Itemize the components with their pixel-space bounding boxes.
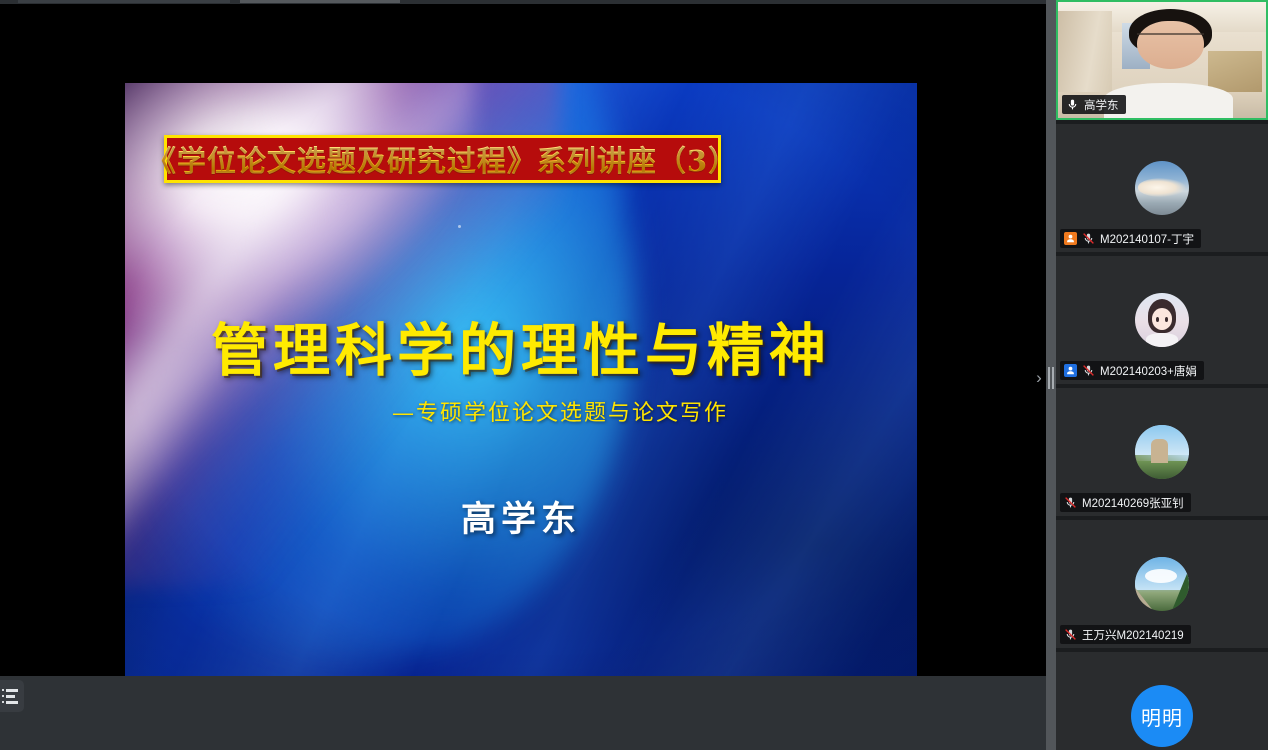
mic-unmuted-icon bbox=[1066, 98, 1079, 111]
slide-decorative-dot bbox=[458, 225, 461, 228]
filmstrip-resize-handle[interactable] bbox=[1047, 366, 1055, 390]
slide-banner-text: 《学位论文选题及研究过程》系列讲座（3） bbox=[147, 138, 738, 180]
participant-tile[interactable]: M202140269张亚钊 bbox=[1056, 388, 1268, 516]
mic-muted-icon bbox=[1064, 628, 1077, 641]
participant-tile[interactable]: 明明 朱明明 bbox=[1056, 652, 1268, 750]
slide-presenter-name: 高学东 bbox=[125, 491, 917, 542]
participant-name: M202140203+唐娟 bbox=[1100, 363, 1197, 379]
participant-label: 高学东 bbox=[1062, 95, 1126, 114]
participant-filmstrip[interactable]: 高学东 M202140107-丁宇 bbox=[1056, 0, 1268, 750]
avatar bbox=[1135, 161, 1189, 215]
avatar bbox=[1135, 293, 1189, 347]
avatar-initials: 明明 bbox=[1141, 702, 1183, 731]
avatar-container: 明明 bbox=[1056, 652, 1268, 750]
slide-main-title: 管理科学的理性与精神 bbox=[125, 305, 917, 387]
participant-label: 王万兴M202140219 bbox=[1060, 625, 1191, 644]
grip-line-1 bbox=[1048, 367, 1050, 389]
participant-tile[interactable]: M202140107-丁宇 bbox=[1056, 124, 1268, 252]
grip-line-2 bbox=[1052, 367, 1054, 389]
participant-name: M202140107-丁宇 bbox=[1100, 231, 1194, 247]
person-badge-icon bbox=[1064, 232, 1077, 245]
avatar bbox=[1135, 425, 1189, 479]
participant-tile[interactable]: 高学东 bbox=[1056, 0, 1268, 120]
participant-tile[interactable]: M202140203+唐娟 bbox=[1056, 256, 1268, 384]
participant-name: 王万兴M202140219 bbox=[1082, 627, 1184, 643]
chevron-right-icon[interactable]: › bbox=[1032, 368, 1046, 388]
participant-name: M202140269张亚钊 bbox=[1082, 495, 1184, 511]
list-icon-row-1 bbox=[2, 689, 24, 692]
slide-banner: 《学位论文选题及研究过程》系列讲座（3） bbox=[164, 135, 721, 183]
top-strip-segment-b bbox=[240, 0, 400, 3]
slide-sub-title: —专硕学位论文选题与论文写作 bbox=[125, 395, 917, 427]
list-view-button[interactable] bbox=[0, 680, 24, 712]
mic-muted-icon bbox=[1064, 496, 1077, 509]
list-icon-row-3 bbox=[2, 701, 24, 704]
mic-muted-icon bbox=[1082, 232, 1095, 245]
person-badge-icon bbox=[1064, 364, 1077, 377]
participant-label: M202140107-丁宇 bbox=[1060, 229, 1201, 248]
participant-label: M202140269张亚钊 bbox=[1060, 493, 1191, 512]
avatar bbox=[1135, 557, 1189, 611]
participant-tile[interactable]: 王万兴M202140219 bbox=[1056, 520, 1268, 648]
presentation-slide[interactable]: 《学位论文选题及研究过程》系列讲座（3） 管理科学的理性与精神 —专硕学位论文选… bbox=[125, 83, 917, 676]
bottom-toolbar bbox=[0, 676, 1056, 750]
participant-label: M202140203+唐娟 bbox=[1060, 361, 1204, 380]
list-icon-row-2 bbox=[2, 695, 24, 698]
shared-screen-stage[interactable]: 《学位论文选题及研究过程》系列讲座（3） 管理科学的理性与精神 —专硕学位论文选… bbox=[0, 4, 1056, 676]
mic-muted-icon bbox=[1082, 364, 1095, 377]
participant-name: 高学东 bbox=[1084, 97, 1119, 113]
top-strip-segment-a bbox=[18, 0, 230, 3]
avatar: 明明 bbox=[1131, 685, 1193, 747]
meeting-window: 《学位论文选题及研究过程》系列讲座（3） 管理科学的理性与精神 —专硕学位论文选… bbox=[0, 0, 1268, 750]
